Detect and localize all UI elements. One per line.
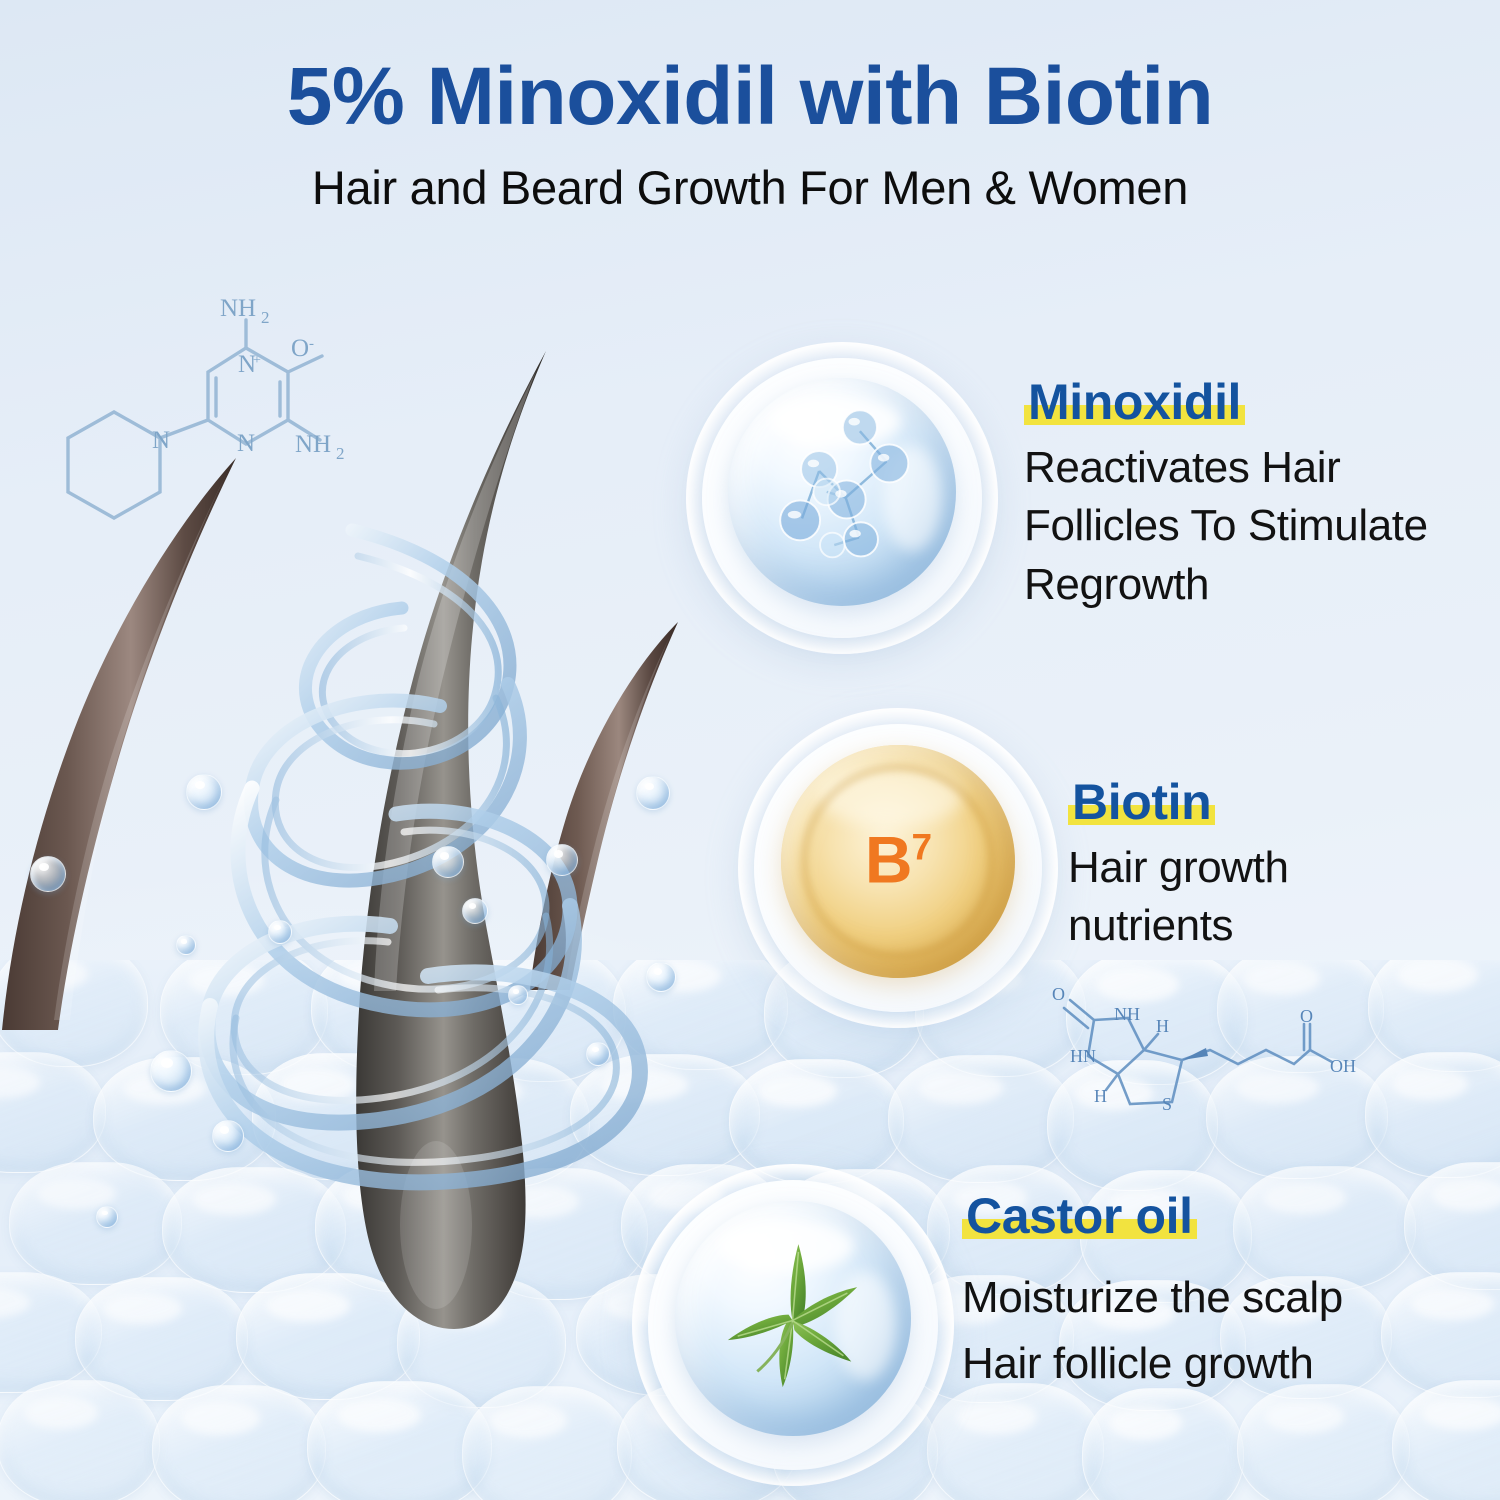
water-bubble [268,920,292,944]
water-ribbon-swirl [190,470,710,1370]
body-line: Moisturize the scalp [962,1265,1343,1331]
svg-text:N: N [152,427,170,454]
svg-text:NH: NH [1114,1004,1140,1024]
body-line: Follicles To Stimulate [1024,497,1428,556]
svg-text:H: H [1094,1086,1107,1106]
ingredient-heading-castor-oil: Castor oil [962,1190,1197,1243]
molecule-icon [728,378,956,606]
body-line: Hair follicle growth [962,1331,1343,1397]
scalp-cell [1082,1388,1244,1500]
scalp-cell [0,1380,160,1500]
body-line: Regrowth [1024,556,1428,615]
water-bubble [150,1050,192,1092]
biotin-chemical-structure: O NH HN H H S O OH [1010,978,1380,1138]
leaf-icon [675,1201,910,1436]
castor-leaf-droplet-icon [675,1201,910,1436]
water-bubble [546,844,578,876]
ingredient-body-castor-oil: Moisturize the scalp Hair follicle growt… [962,1265,1343,1397]
page-subtitle: Hair and Beard Growth For Men & Women [0,160,1500,215]
minoxidil-orb [686,342,998,654]
ingredient-heading-minoxidil: Minoxidil [1024,376,1245,429]
scalp-cell [9,1162,182,1285]
scalp-cell [1365,1052,1500,1178]
svg-text:S: S [1162,1094,1172,1114]
water-bubble [30,856,66,892]
water-bubble [586,1042,610,1066]
water-bubble [636,776,670,810]
golden-oil-droplet-icon: B7 [781,745,1015,979]
biotin-orb: B7 [738,708,1058,1028]
body-line: Hair growth [1068,839,1289,898]
svg-text:NH: NH [220,295,256,322]
page-title: 5% Minoxidil with Biotin [0,56,1500,138]
scalp-cell [1237,1384,1410,1500]
ingredient-body-minoxidil: Reactivates Hair Follicles To Stimulate … [1024,439,1428,615]
ingredient-text-biotin: Biotin Hair growth nutrients [1068,776,1289,956]
water-bubble [462,898,488,924]
header: 5% Minoxidil with Biotin Hair and Beard … [0,56,1500,215]
ingredient-text-minoxidil: Minoxidil Reactivates Hair Follicles To … [1024,376,1428,614]
svg-text:HN: HN [1070,1046,1096,1066]
body-line: nutrients [1068,897,1289,956]
svg-text:OH: OH [1330,1056,1356,1076]
ingredient-body-biotin: Hair growth nutrients [1068,839,1289,956]
water-bubble [176,935,196,955]
water-bubble [186,774,222,810]
water-bubble [508,985,528,1005]
ingredient-heading-biotin: Biotin [1068,776,1215,829]
product-infographic: 5% Minoxidil with Biotin Hair and Beard … [0,0,1500,1500]
water-molecule-droplet-icon [728,378,956,606]
svg-text:H: H [1156,1016,1169,1036]
svg-text:O: O [1300,1006,1313,1026]
ingredient-text-castor-oil: Castor oil Moisturize the scalp Hair fol… [962,1190,1343,1397]
water-bubble [212,1120,244,1152]
body-line: Reactivates Hair [1024,439,1428,498]
vitamin-b7-label: B7 [781,826,1015,892]
water-bubble [432,846,464,878]
svg-text:2: 2 [261,308,270,327]
water-bubble [96,1206,118,1228]
water-bubble [646,962,676,992]
